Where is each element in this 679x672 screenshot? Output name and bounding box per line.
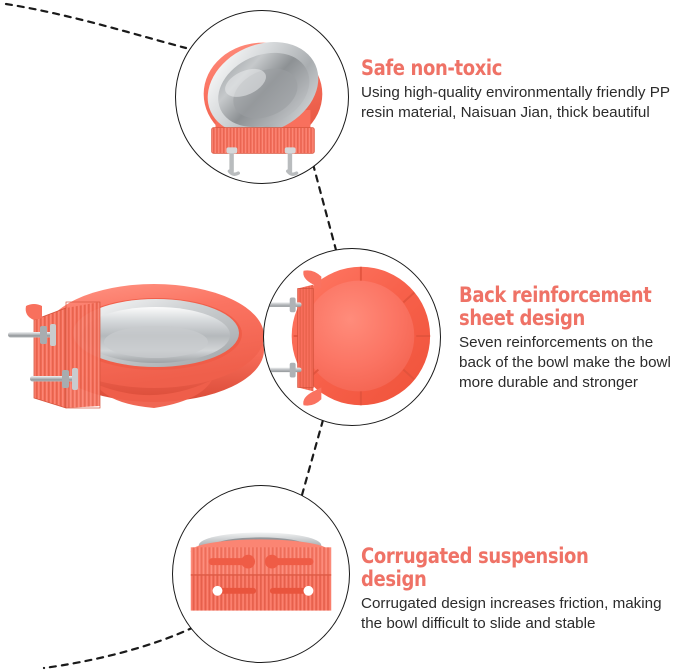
callout-1-illustration [176, 11, 348, 183]
c1-pin-left [226, 147, 238, 174]
c2-bolt-upper [268, 297, 302, 312]
hero-mount-bracket [26, 302, 100, 408]
connector-topleft-to-circle1 [6, 4, 186, 48]
hero-product-image [4, 258, 284, 418]
feature-3-heading: Corrugated suspension design [361, 545, 655, 591]
hero-product-illustration [4, 258, 284, 418]
product-infographic: Safe non-toxic Using high-quality enviro… [0, 0, 679, 672]
c1-pin-right [285, 147, 297, 174]
feature-3-body: Corrugated design increases friction, ma… [361, 594, 677, 634]
c2-bolt-lower [268, 363, 302, 378]
callout-circle-corrugated-suspension [172, 485, 350, 663]
feature-1-heading: Safe non-toxic [361, 57, 651, 80]
connector-circle2-to-circle3 [302, 420, 323, 495]
feature-1-body: Using high-quality environmentally frien… [361, 83, 673, 123]
callout-3-illustration [173, 486, 349, 662]
c2-back-disc [304, 281, 415, 392]
feature-text-back-reinforcement: Back reinforcement sheet design Seven re… [459, 284, 675, 393]
callout-2-illustration [264, 249, 440, 425]
feature-2-body: Seven reinforcements on the back of the … [459, 333, 675, 392]
feature-text-safe-non-toxic: Safe non-toxic Using high-quality enviro… [361, 57, 673, 123]
feature-text-corrugated-suspension: Corrugated suspension design Corrugated … [361, 545, 677, 634]
hero-steel-bottom [104, 326, 208, 358]
callout-circle-safe-non-toxic [175, 10, 349, 184]
connector-circle3-to-bottomleft [44, 627, 194, 668]
feature-2-heading: Back reinforcement sheet design [459, 284, 660, 330]
callout-circle-back-reinforcement [263, 248, 441, 426]
